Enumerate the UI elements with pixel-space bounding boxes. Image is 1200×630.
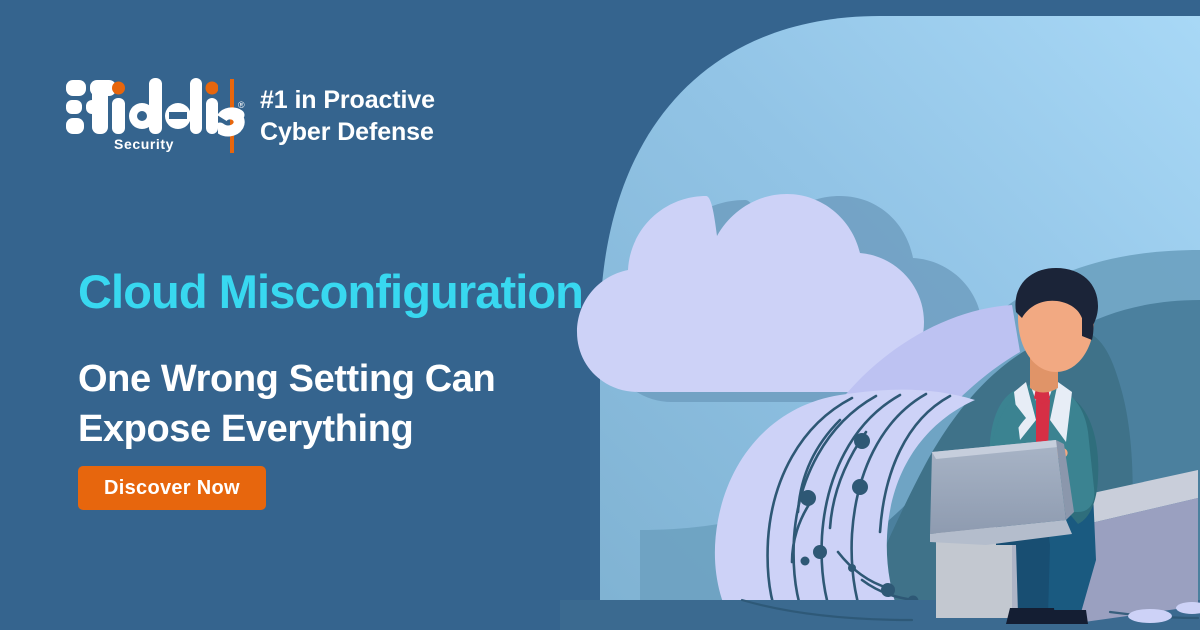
promo-banner: ® Security #1 in Proactive Cyber Defense… [0, 0, 1200, 630]
tagline-line-2: Cyber Defense [260, 116, 435, 148]
page-title: Cloud Misconfiguration [78, 268, 583, 315]
fidelis-logo[interactable]: ® Security [66, 76, 216, 156]
fidelis-logo-s-and-mark: ® [218, 98, 246, 140]
fidelis-logo-subtitle: Security [114, 136, 174, 152]
discover-now-button[interactable]: Discover Now [78, 466, 266, 510]
svg-text:®: ® [238, 100, 245, 110]
subtitle-line-1: One Wrong Setting Can [78, 354, 495, 404]
page-subtitle: One Wrong Setting Can Expose Everything [78, 354, 495, 454]
brand-bar: ® Security #1 in Proactive Cyber Defense [66, 76, 435, 156]
tagline-line-1: #1 in Proactive [260, 84, 435, 116]
subtitle-line-2: Expose Everything [78, 404, 495, 454]
brand-tagline: #1 in Proactive Cyber Defense [260, 84, 435, 148]
fidelis-logo-mark [66, 76, 218, 138]
